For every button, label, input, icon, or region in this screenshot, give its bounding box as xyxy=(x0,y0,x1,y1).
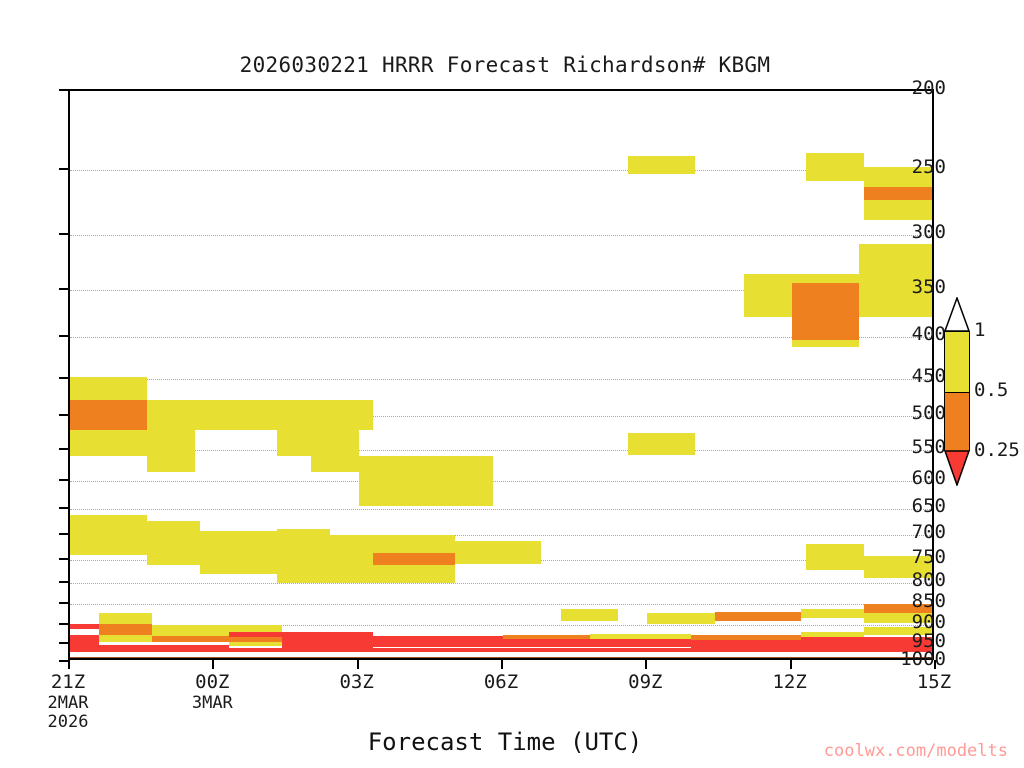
y-tick-950 xyxy=(59,642,68,644)
gridline-300 xyxy=(70,235,932,237)
y-tick-900 xyxy=(59,623,68,625)
y-tick-label-700: 700 xyxy=(912,523,946,542)
heatmap-cell xyxy=(70,430,147,456)
heatmap-cell xyxy=(99,624,152,636)
x-tick-15Z xyxy=(934,660,936,669)
y-tick-label-650: 650 xyxy=(912,497,946,516)
y-tick-550 xyxy=(59,448,68,450)
heatmap-cell xyxy=(864,200,934,220)
y-tick-label-400: 400 xyxy=(912,325,946,344)
heatmap-cell xyxy=(99,613,152,623)
heatmap-cell xyxy=(277,429,359,457)
gridline-550 xyxy=(70,450,932,452)
x-tick-label-21Z: 21Z2MAR2026 xyxy=(8,672,128,733)
y-tick-400 xyxy=(59,335,68,337)
colorbar-body xyxy=(944,331,970,451)
y-tick-250 xyxy=(59,168,68,170)
y-tick-label-300: 300 xyxy=(912,223,946,242)
y-tick-label-450: 450 xyxy=(912,367,946,386)
heatmap-cell xyxy=(628,156,695,175)
y-tick-label-200: 200 xyxy=(912,79,946,98)
heatmap-cell xyxy=(70,648,934,652)
heatmap-cell xyxy=(503,639,590,646)
heatmap-cell xyxy=(373,553,455,565)
chart-plot-area xyxy=(68,89,934,660)
y-tick-800 xyxy=(59,581,68,583)
gridline-650 xyxy=(70,509,932,511)
heatmap-canvas xyxy=(70,91,932,658)
gridline-850 xyxy=(70,604,932,606)
heatmap-cell xyxy=(647,613,714,623)
heatmap-cell xyxy=(200,531,277,573)
x-tick-21Z xyxy=(68,660,70,669)
y-tick-500 xyxy=(59,414,68,416)
x-tick-label-00Z: 00Z3MAR xyxy=(152,672,272,713)
heatmap-cell xyxy=(801,609,864,618)
y-tick-label-750: 750 xyxy=(912,548,946,567)
heatmap-cell xyxy=(806,544,864,570)
y-tick-300 xyxy=(59,233,68,235)
heatmap-cell xyxy=(715,612,802,622)
colorbar-arrow-down-outline-icon xyxy=(944,450,970,486)
x-tick-06Z xyxy=(501,660,503,669)
heatmap-cell xyxy=(792,283,859,340)
colorbar-arrow-up-outline-icon xyxy=(944,297,970,332)
heatmap-cell xyxy=(70,635,99,643)
y-tick-label-850: 850 xyxy=(912,592,946,611)
x-tick-label-12Z: 12Z xyxy=(730,672,850,694)
heatmap-cell xyxy=(691,640,802,647)
y-tick-label-250: 250 xyxy=(912,158,946,177)
x-tick-00Z xyxy=(212,660,214,669)
heatmap-cell xyxy=(359,472,494,506)
y-tick-label-800: 800 xyxy=(912,571,946,590)
x-tick-label-03Z: 03Z xyxy=(297,672,417,694)
heatmap-cell xyxy=(792,340,859,347)
colorbar-tick-label-0.5: 0.5 xyxy=(974,381,1008,400)
heatmap-cell xyxy=(373,636,503,647)
page-title: 2026030221 HRRR Forecast Richardson# KBG… xyxy=(0,53,1010,77)
y-tick-450 xyxy=(59,377,68,379)
heatmap-cell xyxy=(455,541,542,563)
x-tick-03Z xyxy=(357,660,359,669)
y-tick-600 xyxy=(59,479,68,481)
x-tick-label-09Z: 09Z xyxy=(585,672,705,694)
heatmap-cell xyxy=(70,515,147,556)
colorbar-tick-label-1: 1 xyxy=(974,321,985,340)
watermark: coolwx.com/modelts xyxy=(824,741,1008,761)
x-tick-09Z xyxy=(645,660,647,669)
y-tick-1000 xyxy=(59,660,68,662)
colorbar-segment-0 xyxy=(945,332,969,392)
y-tick-700 xyxy=(59,533,68,535)
y-tick-label-500: 500 xyxy=(912,404,946,423)
heatmap-cell xyxy=(70,400,147,430)
gridline-800 xyxy=(70,583,932,585)
y-tick-label-600: 600 xyxy=(912,469,946,488)
gridline-600 xyxy=(70,481,932,483)
heatmap-cell xyxy=(864,187,934,200)
x-tick-label-15Z: 15Z xyxy=(874,672,994,694)
colorbar-legend: 10.50.25 xyxy=(944,297,970,485)
heatmap-cell xyxy=(277,529,330,583)
heatmap-cell xyxy=(282,632,373,643)
heatmap-cell xyxy=(147,430,195,472)
y-tick-label-550: 550 xyxy=(912,438,946,457)
y-tick-650 xyxy=(59,507,68,509)
y-tick-750 xyxy=(59,558,68,560)
gridline-450 xyxy=(70,379,932,381)
heatmap-cell xyxy=(311,456,494,472)
heatmap-cell xyxy=(806,153,864,182)
y-tick-350 xyxy=(59,288,68,290)
heatmap-cell xyxy=(561,609,619,621)
x-tick-12Z xyxy=(790,660,792,669)
heatmap-cell xyxy=(628,433,695,455)
heatmap-cell xyxy=(147,521,200,565)
heatmap-cell xyxy=(590,639,691,647)
gridline-250 xyxy=(70,170,932,172)
heatmap-cell xyxy=(70,377,147,400)
y-tick-850 xyxy=(59,602,68,604)
colorbar-segment-1 xyxy=(945,392,969,453)
heatmap-cell xyxy=(152,625,229,636)
y-tick-label-900: 900 xyxy=(912,613,946,632)
colorbar-tick-label-0.25: 0.25 xyxy=(974,441,1020,460)
y-tick-200 xyxy=(59,89,68,91)
x-tick-label-06Z: 06Z xyxy=(441,672,561,694)
heatmap-cell xyxy=(147,400,373,430)
y-tick-label-350: 350 xyxy=(912,278,946,297)
y-tick-label-1000: 1000 xyxy=(900,650,946,669)
